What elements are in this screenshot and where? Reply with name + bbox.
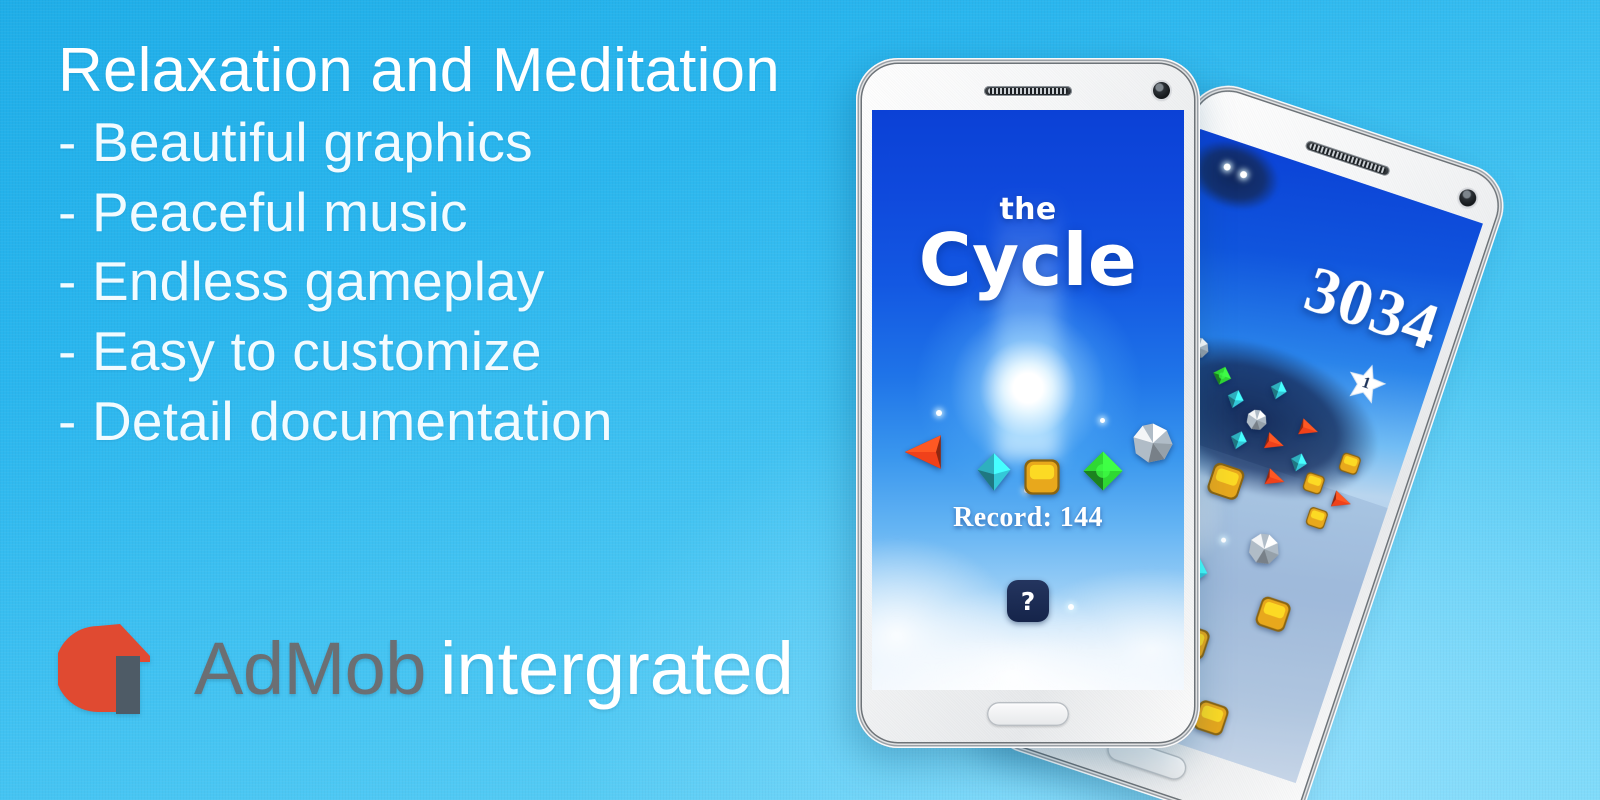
samsung-white-phone-front: the Cycle Record: 144 ? <box>856 58 1200 748</box>
feature-list: - Beautiful graphics - Peaceful music - … <box>58 108 878 457</box>
earpiece-speaker-icon <box>984 86 1072 96</box>
app-title-large: Cycle <box>872 218 1184 302</box>
marketing-copy: Relaxation and Meditation - Beautiful gr… <box>58 38 878 457</box>
silver-poly-gem[interactable] <box>1130 420 1176 466</box>
admob-badge: AdMob intergrated <box>58 616 794 720</box>
cyan-droplet-gem[interactable] <box>972 450 1016 494</box>
front-camera-icon <box>1153 82 1170 99</box>
list-item: - Peaceful music <box>58 178 878 248</box>
home-button[interactable] <box>987 702 1069 726</box>
red-triangle-gem[interactable] <box>900 428 948 476</box>
promo-banner: Relaxation and Meditation - Beautiful gr… <box>0 0 1600 800</box>
green-diamond-gem[interactable] <box>1080 448 1126 494</box>
sparkle <box>1068 604 1074 610</box>
admob-tail-text: intergrated <box>440 626 794 711</box>
page-title: Relaxation and Meditation <box>58 38 878 104</box>
list-item: - Beautiful graphics <box>58 108 878 178</box>
admob-wordmark: AdMob intergrated <box>194 626 794 711</box>
list-item: - Endless gameplay <box>58 247 878 317</box>
title-screen[interactable]: the Cycle Record: 144 ? <box>872 110 1184 690</box>
sparkle <box>936 410 942 416</box>
sparkle <box>1100 418 1105 423</box>
admob-logo-icon <box>58 616 168 720</box>
help-button[interactable]: ? <box>1007 580 1049 622</box>
gold-square-gem[interactable] <box>1020 455 1064 499</box>
record-label: Record: 144 <box>872 502 1184 534</box>
admob-brand-text: AdMob <box>194 626 426 711</box>
list-item: - Detail documentation <box>58 387 878 457</box>
list-item: - Easy to customize <box>58 317 878 387</box>
